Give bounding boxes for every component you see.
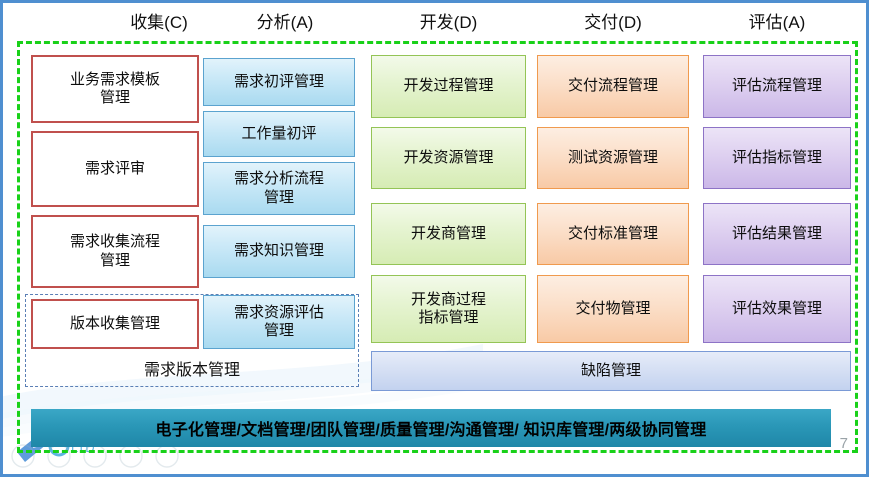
column-header-1: 分析(A) <box>195 9 375 37</box>
node-collect-0[interactable]: 业务需求模板 管理 <box>31 55 199 123</box>
node-evaluate-1[interactable]: 评估指标管理 <box>703 127 851 189</box>
node-analyze-3[interactable]: 需求知识管理 <box>203 225 355 278</box>
page-number: 7 <box>840 435 848 452</box>
node-develop-0[interactable]: 开发过程管理 <box>371 55 526 118</box>
node-deliver-2[interactable]: 交付标准管理 <box>537 203 689 265</box>
node-collect-1[interactable]: 需求评审 <box>31 131 199 207</box>
node-develop-3[interactable]: 开发商过程 指标管理 <box>371 275 526 343</box>
foundation-bar: 电子化管理/文档管理/团队管理/质量管理/沟通管理/ 知识库管理/两级协同管理 <box>31 409 831 447</box>
node-collect-2[interactable]: 需求收集流程 管理 <box>31 215 199 288</box>
node-deliver-0[interactable]: 交付流程管理 <box>537 55 689 118</box>
node-evaluate-0[interactable]: 评估流程管理 <box>703 55 851 118</box>
column-header-3: 交付(D) <box>537 9 689 37</box>
node-evaluate-3[interactable]: 评估效果管理 <box>703 275 851 343</box>
column-header-2: 开发(D) <box>371 9 526 37</box>
node-develop-1[interactable]: 开发资源管理 <box>371 127 526 189</box>
node-analyze-2[interactable]: 需求分析流程 管理 <box>203 162 355 215</box>
node-analyze-1[interactable]: 工作量初评 <box>203 111 355 157</box>
node-deliver-3[interactable]: 交付物管理 <box>537 275 689 343</box>
node-develop-2[interactable]: 开发商管理 <box>371 203 526 265</box>
slide-canvas: LTD 收集(C)分析(A)开发(D)交付(D)评估(A) 业务需求模板 管理需… <box>0 0 869 477</box>
column-header-4: 评估(A) <box>703 9 851 37</box>
requirement-version-subgroup-label: 需求版本管理 <box>25 353 359 383</box>
node-defect[interactable]: 缺陷管理 <box>371 351 851 391</box>
node-evaluate-2[interactable]: 评估结果管理 <box>703 203 851 265</box>
column-headers: 收集(C)分析(A)开发(D)交付(D)评估(A) <box>3 9 869 39</box>
node-deliver-1[interactable]: 测试资源管理 <box>537 127 689 189</box>
node-analyze-0[interactable]: 需求初评管理 <box>203 58 355 106</box>
